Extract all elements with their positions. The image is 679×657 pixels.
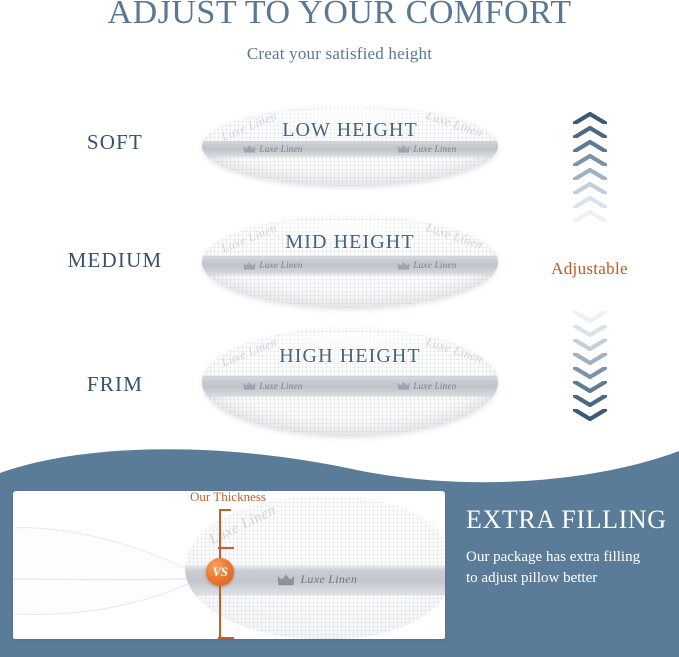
banner-body-line2: to adjust pillow better bbox=[466, 568, 676, 589]
banner-body-line1: Our package has extra filling bbox=[466, 547, 676, 568]
crown-icon bbox=[243, 381, 256, 390]
firmness-label-medium: MEDIUM bbox=[40, 248, 190, 273]
height-label-mid: MID HEIGHT bbox=[202, 231, 498, 254]
crown-icon bbox=[397, 144, 410, 153]
brand-name: Luxe Linen bbox=[259, 381, 302, 391]
adjustable-arrows-up bbox=[560, 112, 620, 222]
chevron-down-icon bbox=[573, 395, 607, 407]
adjustable-arrows-down bbox=[560, 311, 620, 421]
brand-lockup: Luxe Linen bbox=[243, 381, 302, 391]
brand-lockup: Luxe Linen bbox=[243, 144, 302, 154]
competitor-flat-pillow bbox=[13, 523, 207, 619]
brand-name: Luxe Linen bbox=[259, 144, 302, 154]
chevron-up-icon bbox=[573, 168, 607, 180]
pillow-brand-band: Luxe Linen Luxe Linen bbox=[202, 376, 498, 397]
firmness-label-firm: FRIM bbox=[40, 372, 190, 397]
pillow-body: Luxe Linen Luxe Linen Luxe Linen bbox=[202, 216, 498, 308]
banner-body: Our package has extra filling to adjust … bbox=[466, 547, 676, 590]
chevron-down-icon bbox=[573, 325, 607, 337]
brand-lockup: Luxe Linen bbox=[397, 381, 456, 391]
chevron-down-icon bbox=[573, 367, 607, 379]
brand-lockup: Luxe Linen bbox=[397, 260, 456, 270]
chevron-up-icon bbox=[573, 126, 607, 138]
crown-icon bbox=[397, 261, 410, 270]
brand-name: Luxe Linen bbox=[413, 144, 456, 154]
pillow-script-left: Luxe Linen bbox=[207, 502, 279, 549]
brand-name: Luxe Linen bbox=[259, 260, 302, 270]
thickness-measure: VS bbox=[219, 509, 221, 639]
measure-tick-top bbox=[219, 509, 231, 511]
chevron-down-icon bbox=[573, 353, 607, 365]
chevron-up-icon bbox=[573, 140, 607, 152]
thickness-comparison-image: Luxe Linen Luxe Linen Our Thickness bbox=[13, 491, 445, 639]
chevron-up-icon bbox=[573, 112, 607, 124]
firmness-label-soft: SOFT bbox=[40, 130, 190, 155]
brand-lockup: Luxe Linen bbox=[397, 144, 456, 154]
height-label-high: HIGH HEIGHT bbox=[202, 345, 498, 368]
thickness-label: Our Thickness bbox=[153, 491, 303, 505]
measure-tick-mid bbox=[218, 547, 234, 549]
chevron-down-icon bbox=[573, 311, 607, 323]
brand-lockup: Luxe Linen bbox=[243, 260, 302, 270]
crown-icon bbox=[397, 381, 410, 390]
extra-filling-banner: Luxe Linen Luxe Linen Our Thickness bbox=[0, 447, 679, 657]
pillow-body: Luxe Linen Luxe Linen Luxe Linen bbox=[202, 106, 498, 186]
brand-name: Luxe Linen bbox=[413, 260, 456, 270]
chevron-up-icon bbox=[573, 196, 607, 208]
crown-icon bbox=[243, 261, 256, 270]
vs-badge: VS bbox=[206, 558, 234, 586]
brand-name: Luxe Linen bbox=[413, 381, 456, 391]
pillow-low: Luxe Linen Luxe Linen Luxe Linen bbox=[202, 106, 498, 186]
banner-heading: EXTRA FILLING bbox=[466, 505, 671, 535]
infographic-root: ADJUST TO YOUR COMFORT Creat your satisf… bbox=[0, 0, 679, 657]
crown-icon bbox=[277, 573, 295, 586]
height-label-low: LOW HEIGHT bbox=[202, 119, 498, 142]
pillow-body: Luxe Linen Luxe Linen Luxe Linen bbox=[202, 328, 498, 436]
chevron-up-icon bbox=[573, 210, 607, 222]
pillow-brand-band: Luxe Linen Luxe Linen bbox=[202, 256, 498, 273]
pillow-brand-band: Luxe Linen Luxe Linen bbox=[202, 141, 498, 156]
pillow-mid: Luxe Linen Luxe Linen Luxe Linen bbox=[202, 216, 498, 308]
page-subtitle: Creat your satisfied height bbox=[0, 44, 679, 64]
pillow-high: Luxe Linen Luxe Linen Luxe Linen bbox=[202, 328, 498, 436]
chevron-down-icon bbox=[573, 381, 607, 393]
chevron-down-icon bbox=[573, 409, 607, 421]
chevron-up-icon bbox=[573, 182, 607, 194]
adjustable-label: Adjustable bbox=[500, 259, 679, 279]
brand-name: Luxe Linen bbox=[300, 572, 357, 587]
chevron-down-icon bbox=[573, 339, 607, 351]
crown-icon bbox=[243, 144, 256, 153]
measure-tick-bottom bbox=[218, 637, 234, 639]
chevron-up-icon bbox=[573, 154, 607, 166]
page-title: ADJUST TO YOUR COMFORT bbox=[0, 0, 679, 32]
